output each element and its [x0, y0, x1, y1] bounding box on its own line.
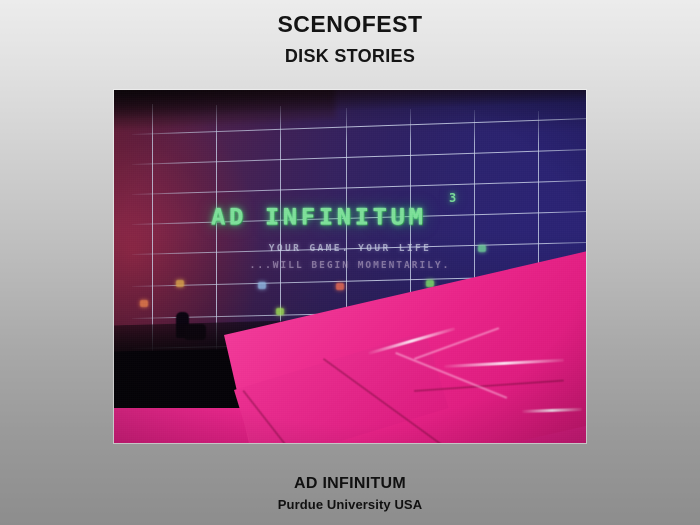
slide-canvas: SCENOFEST DISK STORIES AD INFINITUM 3 YO…	[0, 0, 700, 525]
caption-institution: Purdue University USA	[0, 496, 700, 514]
page-subtitle: DISK STORIES	[0, 43, 700, 69]
pink-fabric-assembly	[114, 90, 586, 443]
photo-frame: AD INFINITUM 3 YOUR GAME. YOUR LIFE ...W…	[114, 90, 586, 443]
slide-header: SCENOFEST DISK STORIES	[0, 10, 700, 69]
page-title: SCENOFEST	[0, 10, 700, 38]
caption-title: AD INFINITUM	[0, 474, 700, 494]
slide-caption: AD INFINITUM Purdue University USA	[0, 474, 700, 514]
